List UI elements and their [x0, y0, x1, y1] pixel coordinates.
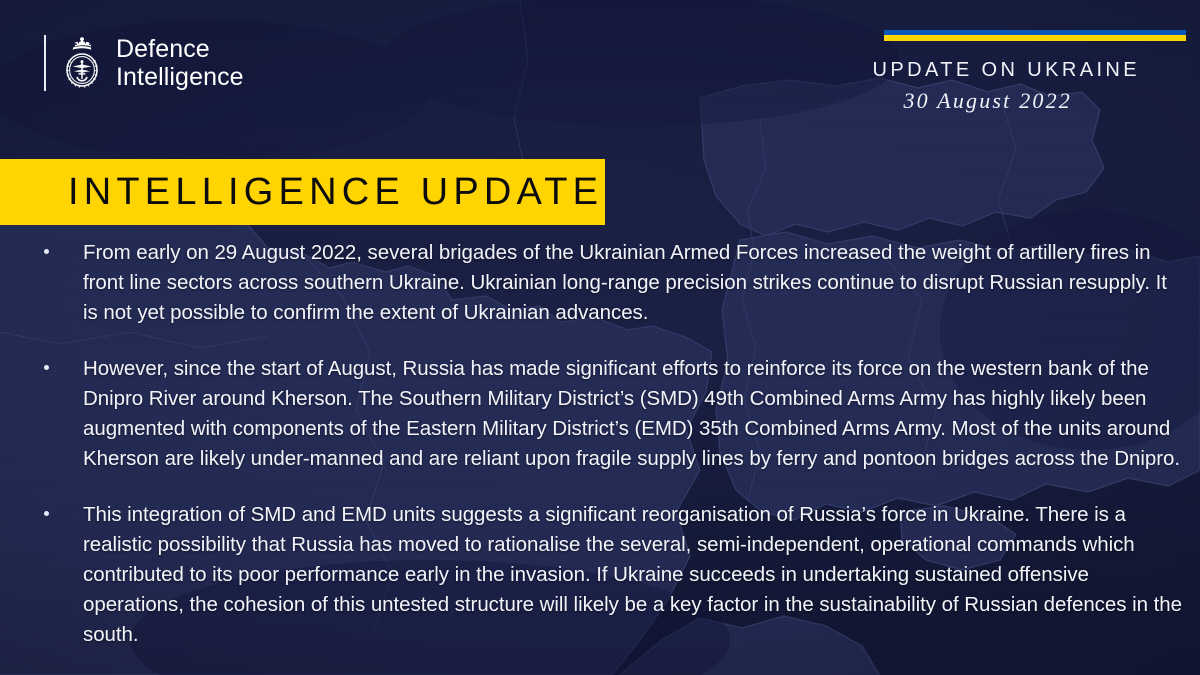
brand-divider-rule	[44, 35, 46, 91]
bullet-paragraph: From early on 29 August 2022, several br…	[83, 238, 1184, 328]
bullet-paragraph: However, since the start of August, Russ…	[83, 354, 1184, 474]
list-item: This integration of SMD and EMD units su…	[44, 500, 1184, 650]
bullet-paragraph: This integration of SMD and EMD units su…	[83, 500, 1184, 650]
intelligence-update-banner: INTELLIGENCE UPDATE	[0, 159, 605, 225]
list-item: From early on 29 August 2022, several br…	[44, 238, 1184, 328]
brand-line-2: Intelligence	[116, 63, 244, 91]
update-on-ukraine-title: UPDATE ON UKRAINE	[766, 59, 1140, 82]
list-item: However, since the start of August, Russ…	[44, 354, 1184, 474]
banner-label: INTELLIGENCE UPDATE	[0, 171, 603, 214]
brand-wordmark: Defence Intelligence	[116, 35, 244, 91]
bullet-point-icon	[44, 354, 83, 370]
ukraine-flag-bar	[884, 30, 1186, 41]
intelligence-update-poster: Defence Intelligence UPDATE ON UKRAINE 3…	[0, 0, 1200, 675]
header-right-block: UPDATE ON UKRAINE 30 August 2022	[766, 30, 1186, 114]
bullet-list: From early on 29 August 2022, several br…	[44, 238, 1184, 650]
mod-defence-intelligence-crest-icon	[60, 35, 104, 91]
bullet-point-icon	[44, 500, 83, 516]
brand-line-1: Defence	[116, 35, 244, 63]
bullet-point-icon	[44, 238, 83, 254]
flag-yellow-stripe	[884, 35, 1186, 41]
update-date: 30 August 2022	[766, 88, 1072, 114]
defence-intelligence-brand: Defence Intelligence	[44, 32, 244, 94]
